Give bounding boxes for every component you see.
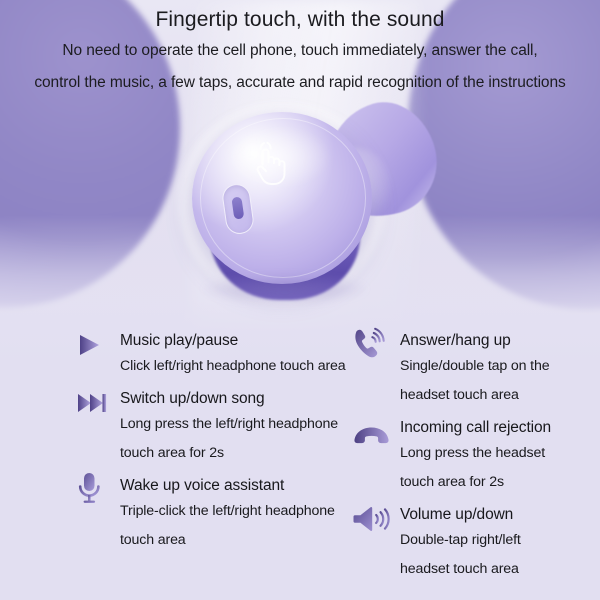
feature-music-play-pause: Music play/pause Click left/right headph… <box>76 330 396 388</box>
feature-switch-song: Switch up/down song Long press the left/… <box>76 388 396 475</box>
page-title: Fingertip touch, with the sound <box>0 8 600 32</box>
feature-grid: Music play/pause Click left/right headph… <box>0 330 600 600</box>
microphone-icon <box>76 473 110 503</box>
feature-desc-line: Long press the left/right headphone <box>76 410 396 439</box>
earbud-led-hole <box>231 196 244 219</box>
feature-desc-line: Single/double tap on the <box>352 352 600 381</box>
earbud-shadow <box>200 274 370 304</box>
feature-column-left: Music play/pause Click left/right headph… <box>76 330 396 562</box>
tap-hand-icon <box>249 140 291 186</box>
earbud-product-image <box>148 96 448 311</box>
feature-desc-line: headset touch area <box>352 381 600 410</box>
feature-desc-line: Click left/right headphone touch area <box>76 352 396 381</box>
subtitle-line-1: No need to operate the cell phone, touch… <box>0 42 600 60</box>
feature-desc-line: touch area for 2s <box>76 439 396 468</box>
feature-voice-assistant: Wake up voice assistant Triple-click the… <box>76 475 396 562</box>
feature-answer-hang-up: Answer/hang up Single/double tap on the … <box>352 330 600 417</box>
feature-call-rejection: Incoming call rejection Long press the h… <box>352 417 600 504</box>
feature-desc-line: touch area <box>76 526 396 555</box>
feature-volume: Volume up/down Double-tap right/left hea… <box>352 504 600 591</box>
feature-column-right: Answer/hang up Single/double tap on the … <box>352 330 600 591</box>
feature-desc-line: Triple-click the left/right headphone <box>76 497 396 526</box>
feature-title: Wake up voice assistant <box>76 475 396 497</box>
feature-desc-line: touch area for 2s <box>352 468 600 497</box>
subtitle-line-2: control the music, a few taps, accurate … <box>0 74 600 92</box>
product-infographic: Fingertip touch, with the sound No need … <box>0 0 600 600</box>
play-pause-icon <box>76 330 110 360</box>
phone-reject-icon <box>352 419 392 449</box>
volume-icon <box>352 504 392 534</box>
feature-title: Answer/hang up <box>352 330 600 352</box>
phone-answer-icon <box>352 328 386 358</box>
skip-track-icon <box>76 388 110 418</box>
feature-desc-line: headset touch area <box>352 555 600 584</box>
feature-title: Music play/pause <box>76 330 396 352</box>
feature-title: Switch up/down song <box>76 388 396 410</box>
